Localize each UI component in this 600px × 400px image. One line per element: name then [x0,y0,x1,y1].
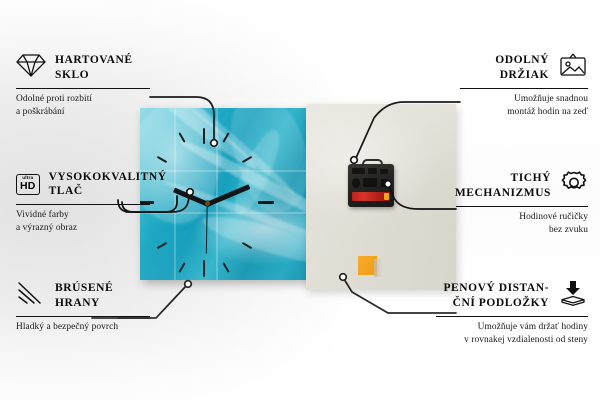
arrow-down-stack-icon [558,280,588,311]
feature-desc-line2: a poškrábání [16,106,150,119]
connector-dot-print [187,189,194,196]
feature-silent-mechanism: TICHÝ MECHANIZMUS Hodinové ručičky bez z… [456,170,588,236]
feature-desc-line2: v rovnakej vzdialenosti od steny [436,334,588,347]
picture-frame-hanger-icon [558,52,588,83]
connector-dot-tempered-glass [211,140,218,147]
infographic-canvas: HARTOVANÉ SKLO Odolné proti rozbití a po… [0,0,600,400]
feature-title-line2: HRANY [55,297,100,309]
hd-badge-main-label: HD [20,181,36,192]
feature-tempered-glass: HARTOVANÉ SKLO Odolné proti rozbití a po… [16,52,150,118]
feature-title-line2: DRŽIAK [500,69,549,81]
feature-desc-line1: Odolné proti rozbití [16,93,150,106]
feature-divider [16,204,150,205]
feature-divider [436,316,588,317]
feature-desc-line2: montáž hodin na zeď [460,106,588,119]
feature-ground-edges: BRÚSENÉ HRANY Hladký a bezpečný povrch [16,280,150,334]
feature-title-line2: MECHANIZMUS [455,187,551,199]
feature-desc-line2: a výrazný obraz [16,222,150,235]
feature-divider [16,316,150,317]
feature-title-line1: ODOLNÝ [495,54,549,66]
feature-high-quality-print: ultra HD VYSOKOKVALITNÝ TLAČ Vividné far… [16,170,150,234]
feature-divider [460,88,588,89]
feature-desc-line1: Hodinové ručičky [456,211,588,224]
feature-title-line1: PENOVÝ DISTAN- [443,282,549,294]
connector-dot-foam [340,274,347,281]
feature-desc-line1: Umožňuje vám držať hodiny [436,321,588,334]
feature-title-line2: ČNÍ PODLOŽKY [453,297,549,309]
feature-durable-holder: ODOLNÝ DRŽIAK Umožňuje snadnou montáž ho… [460,52,588,118]
feature-desc-line2: bez zvuku [456,224,588,237]
connector-dot-edges [185,281,192,288]
feature-divider [456,206,588,207]
feature-desc-line1: Vividné farby [16,209,150,222]
feature-title-line1: BRÚSENÉ [55,282,113,294]
feature-title-line1: TICHÝ [511,172,551,184]
feature-title-line2: SKLO [55,69,89,81]
connector-dot-holder [351,157,358,164]
feature-divider [16,88,150,89]
connector-dot-mechanism [385,181,392,188]
feature-title-line1: HARTOVANÉ [55,54,133,66]
feature-title-line2: TLAČ [49,185,83,197]
diagonal-lines-icon [16,280,46,311]
feature-foam-spacers: PENOVÝ DISTAN- ČNÍ PODLOŽKY Umožňuje vám… [436,280,588,346]
feature-desc-line1: Umožňuje snadnou [460,93,588,106]
gear-icon [560,170,588,201]
feature-desc-line1: Hladký a bezpečný povrch [16,321,150,334]
ultra-hd-badge-icon: ultra HD [16,174,40,195]
feature-title-line1: VYSOKOKVALITNÝ [49,171,167,183]
diamond-icon [16,52,46,83]
